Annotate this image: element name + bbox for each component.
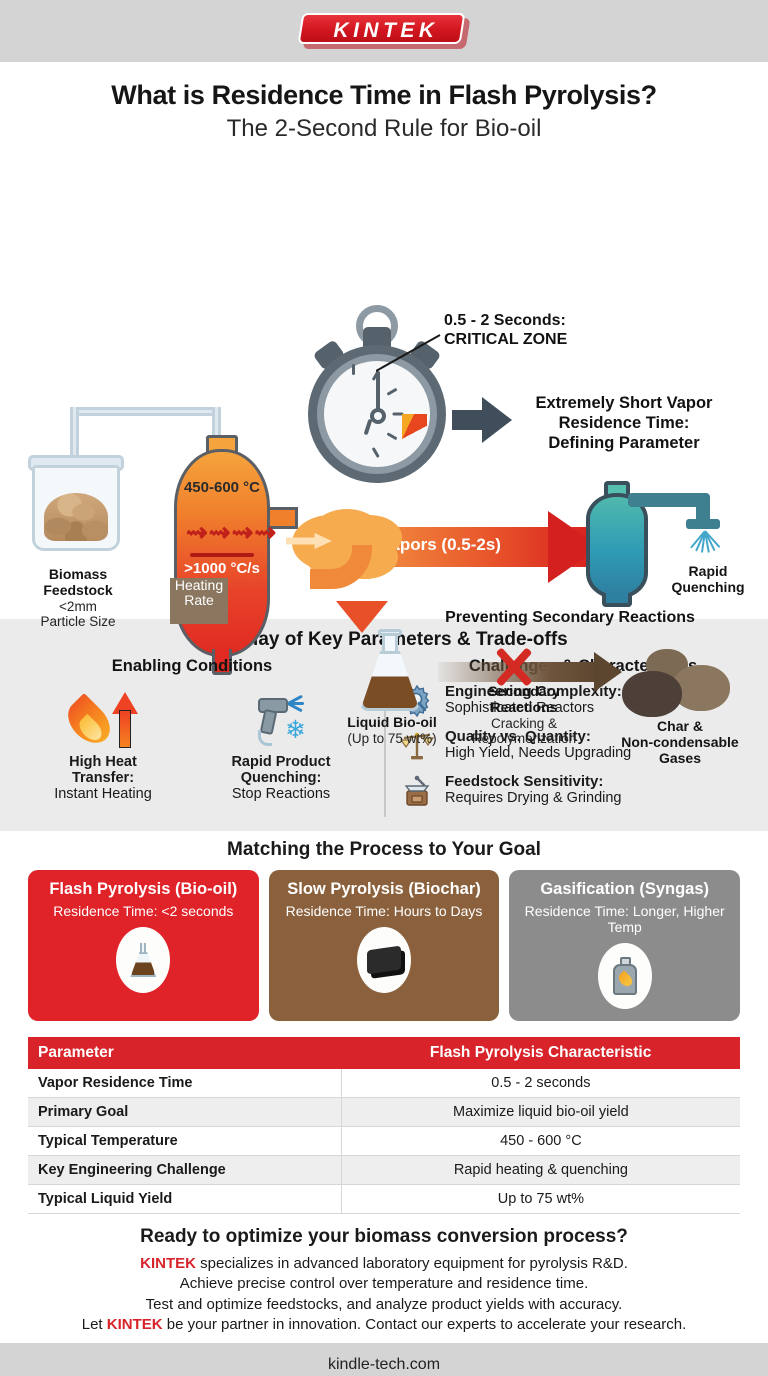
infographic-page: KINTEK What is Residence Time in Flash P…	[0, 0, 768, 1376]
charcoal-briquette-icon	[357, 927, 411, 993]
caption-bold-line1: High Heat	[23, 754, 183, 770]
defining-line2: Residence Time:	[498, 413, 750, 433]
defining-line1: Extremely Short Vapor	[498, 393, 750, 413]
matching-section: Matching the Process to Your Goal Flash …	[0, 831, 768, 1031]
cta-line-4-pre: Let	[82, 1316, 107, 1333]
table-cell-parameter: Typical Liquid Yield	[28, 1185, 341, 1214]
vapors-label: Vapors (0.5-2s)	[380, 535, 501, 555]
critical-zone-line2: CRITICAL ZONE	[444, 330, 684, 349]
secondary-line1: Secondary	[456, 684, 592, 700]
critical-zone-line1: 0.5 - 2 Seconds:	[444, 311, 684, 330]
quench-vessel-foot	[602, 593, 632, 607]
quench-vessel-icon	[586, 493, 648, 599]
spray-gun-icon: ❄	[252, 692, 310, 748]
process-card-gasification[interactable]: Gasification (Syngas) Residence Time: Lo…	[509, 870, 740, 1021]
challenge-normal: Requires Drying & Grinding	[445, 790, 622, 807]
enabling-item-caption: High Heat Transfer: Instant Heating	[23, 754, 183, 803]
critical-zone-label: 0.5 - 2 Seconds: CRITICAL ZONE	[444, 311, 684, 349]
logo-bar: KINTEK	[0, 0, 768, 62]
table-cell-characteristic: Up to 75 wt%	[341, 1185, 740, 1214]
table-cell-characteristic: 450 - 600 °C	[341, 1127, 740, 1156]
heating-rate-value: >1000 °C/s	[170, 561, 274, 578]
kintek-logo: KINTEK	[300, 13, 468, 49]
flask-icon	[116, 927, 170, 993]
biomass-label: Biomass Feedstock <2mm Particle Size	[18, 567, 138, 630]
biomass-line4: Particle Size	[18, 614, 138, 629]
flame-icon	[70, 694, 110, 748]
enabling-item-rapid-product-quenching: ❄ Rapid Product Quenching: Stop Reaction…	[201, 682, 361, 803]
wood-chips	[44, 493, 108, 541]
char-gases-icon	[620, 649, 730, 719]
card-subtitle: Residence Time: Hours to Days	[277, 903, 492, 919]
cta-line-1: KINTEK specializes in advanced laborator…	[24, 1254, 744, 1274]
enabling-item-caption: Rapid Product Quenching: Stop Reactions	[201, 754, 361, 803]
gas-cylinder-icon	[598, 943, 652, 1009]
table-cell-characteristic: Rapid heating & quenching	[341, 1156, 740, 1185]
table-row: Vapor Residence Time0.5 - 2 seconds	[28, 1069, 740, 1098]
feed-pipe-horizontal	[70, 407, 220, 416]
challenge-text: Feedstock Sensitivity: Requires Drying &…	[445, 772, 622, 807]
table-cell-parameter: Typical Temperature	[28, 1127, 341, 1156]
card-title: Flash Pyrolysis (Bio-oil)	[36, 880, 251, 898]
page-title: What is Residence Time in Flash Pyrolysi…	[12, 80, 756, 111]
spray-gun-snowflake-icon: ❄	[201, 682, 361, 748]
stopwatch-icon	[300, 309, 452, 461]
char-blob	[622, 671, 682, 717]
heating-rate-caption: Heating Rate	[170, 578, 228, 624]
process-cards: Flash Pyrolysis (Bio-oil) Residence Time…	[0, 870, 768, 1021]
table-cell-characteristic: 0.5 - 2 seconds	[341, 1069, 740, 1098]
preventing-secondary-reactions-label: Preventing Secondary Reactions	[408, 609, 732, 627]
card-subtitle: Residence Time: Longer, Higher Temp	[517, 903, 732, 935]
table-body: Vapor Residence Time0.5 - 2 secondsPrima…	[28, 1069, 740, 1214]
enabling-conditions-column: Enabling Conditions High Heat Transfer: …	[0, 657, 384, 817]
characteristics-table-wrap: Parameter Flash Pyrolysis Characteristic…	[0, 1031, 768, 1214]
secondary-line3: Cracking &	[456, 716, 592, 731]
process-card-slow-pyrolysis[interactable]: Slow Pyrolysis (Biochar) Residence Time:…	[269, 870, 500, 1021]
reactor-heating-rate-label: >1000 °C/s Heating Rate	[170, 561, 274, 624]
secondary-reaction-arrow-head	[594, 652, 622, 692]
table-row: Primary GoalMaximize liquid bio-oil yiel…	[28, 1098, 740, 1127]
flame-arrow-icon	[23, 682, 183, 748]
cta-section: Ready to optimize your biomass conversio…	[0, 1214, 768, 1343]
table-row: Typical Liquid YieldUp to 75 wt%	[28, 1185, 740, 1214]
logo-text: KINTEK	[329, 19, 438, 43]
brand-mention: KINTEK	[107, 1316, 163, 1333]
char-line1: Char &	[600, 719, 760, 735]
cta-line-1-rest: specializes in advanced laboratory equip…	[196, 1255, 628, 1272]
table-row: Typical Temperature450 - 600 °C	[28, 1127, 740, 1156]
cta-line-3: Test and optimize feedstocks, and analyz…	[24, 1295, 744, 1315]
table-cell-parameter: Key Engineering Challenge	[28, 1156, 341, 1185]
stopwatch-critical-zone-wedge	[377, 414, 427, 464]
brand-mention: KINTEK	[140, 1255, 196, 1272]
caption-bold-line2: Transfer:	[23, 770, 183, 786]
jet-lines-icon	[288, 694, 310, 714]
card-title: Slow Pyrolysis (Biochar)	[277, 880, 492, 898]
biomass-line3: <2mm	[18, 599, 138, 614]
callout-leader-line	[376, 333, 442, 373]
spray-icon	[676, 531, 732, 561]
title-block: What is Residence Time in Flash Pyrolysi…	[0, 62, 768, 149]
secondary-line2: Reactions	[456, 700, 592, 716]
flask-rim	[378, 629, 402, 636]
table-cell-parameter: Vapor Residence Time	[28, 1069, 341, 1098]
rapid-quenching-label: Rapid Quenching	[652, 564, 764, 596]
card-subtitle: Residence Time: <2 seconds	[36, 903, 251, 919]
biomass-line2: Feedstock	[18, 583, 138, 599]
biomass-jar-icon	[28, 449, 124, 555]
table-header-row: Parameter Flash Pyrolysis Characteristic	[28, 1037, 740, 1069]
quench-line2: Quenching	[652, 580, 764, 596]
cta-heading: Ready to optimize your biomass conversio…	[24, 1226, 744, 1248]
char-line2: Non-condensable	[600, 735, 760, 751]
enabling-conditions-heading: Enabling Conditions	[0, 657, 384, 676]
bio-oil-branch-arrow	[310, 545, 372, 589]
footer-bar: kindle-tech.com	[0, 1343, 768, 1376]
table-row: Key Engineering ChallengeRapid heating &…	[28, 1156, 740, 1185]
quench-line1: Rapid	[652, 564, 764, 580]
footer-url: kindle-tech.com	[328, 1356, 440, 1374]
challenge-bold: Feedstock Sensitivity:	[445, 773, 622, 790]
defining-line3: Defining Parameter	[498, 433, 750, 453]
reactor-divider	[190, 553, 254, 557]
reactor-temperature-label: 450-600 °C	[174, 479, 270, 496]
table-header-parameter: Parameter	[28, 1037, 341, 1069]
up-arrow-icon	[114, 694, 136, 748]
quench-nozzle-icon	[686, 519, 720, 529]
enabling-item-high-heat-transfer: High Heat Transfer: Instant Heating	[23, 682, 183, 803]
table-cell-parameter: Primary Goal	[28, 1098, 341, 1127]
secondary-reactions-label: Secondary Reactions Cracking & Repolymer…	[456, 684, 592, 747]
card-title: Gasification (Syngas)	[517, 880, 732, 898]
cross-out-icon	[492, 646, 534, 688]
caption-normal: Stop Reactions	[201, 786, 361, 802]
process-card-flash-pyrolysis[interactable]: Flash Pyrolysis (Bio-oil) Residence Time…	[28, 870, 259, 1021]
challenge-row-feedstock-sensitivity: Feedstock Sensitivity: Requires Drying &…	[398, 772, 768, 810]
table-cell-characteristic: Maximize liquid bio-oil yield	[341, 1098, 740, 1127]
biomass-line1: Biomass	[18, 567, 138, 583]
heat-waves-icon: ⇝⇝⇝⇝	[186, 519, 258, 545]
char-line3: Gases	[600, 751, 760, 767]
grinder-icon	[398, 772, 436, 810]
secondary-line4: Repolymerization	[456, 731, 592, 746]
process-diagram: 0.5 - 2 Seconds: CRITICAL ZONE Extremely…	[0, 149, 768, 619]
characteristics-table: Parameter Flash Pyrolysis Characteristic…	[28, 1037, 740, 1214]
caption-normal: Instant Heating	[23, 786, 183, 802]
matching-title: Matching the Process to Your Goal	[0, 839, 768, 861]
table-header-characteristic: Flash Pyrolysis Characteristic	[341, 1037, 740, 1069]
stopwatch-hub	[370, 408, 386, 424]
cta-line-2: Achieve precise control over temperature…	[24, 1274, 744, 1294]
cta-line-4-rest: be your partner in innovation. Contact o…	[163, 1316, 687, 1333]
caption-bold-line1: Rapid Product	[201, 754, 361, 770]
table-head: Parameter Flash Pyrolysis Characteristic	[28, 1037, 740, 1069]
char-label: Char & Non-condensable Gases	[600, 719, 760, 767]
defining-parameter-label: Extremely Short Vapor Residence Time: De…	[498, 393, 750, 453]
arrow-shaft	[452, 410, 486, 430]
page-subtitle: The 2-Second Rule for Bio-oil	[12, 115, 756, 143]
caption-bold-line2: Quenching:	[201, 770, 361, 786]
cta-line-4: Let KINTEK be your partner in innovation…	[24, 1315, 744, 1335]
snowflake-icon: ❄	[285, 718, 306, 743]
